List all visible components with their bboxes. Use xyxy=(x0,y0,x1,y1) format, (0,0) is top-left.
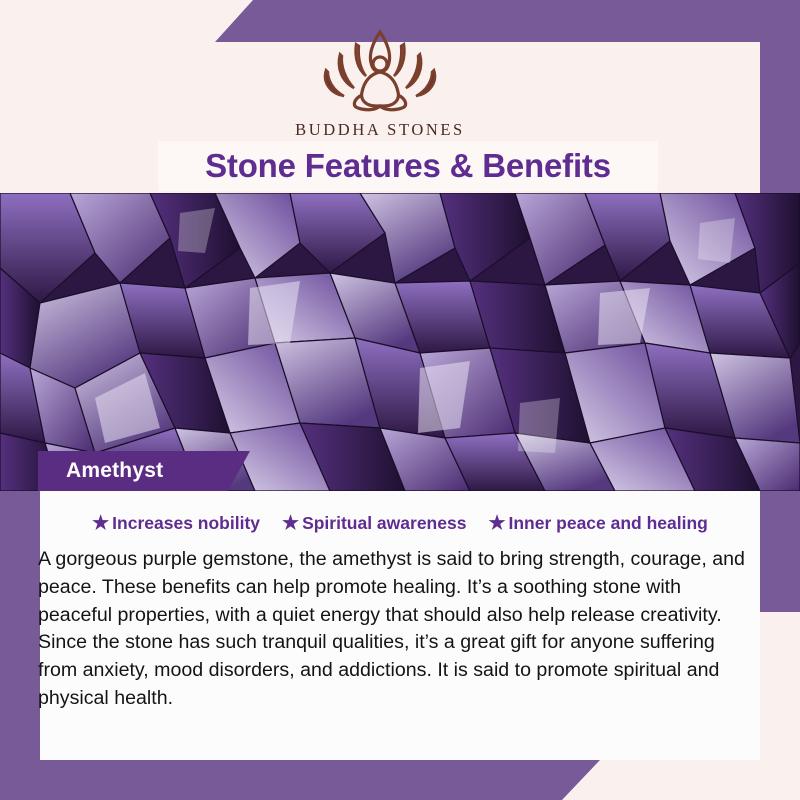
star-icon: ★ xyxy=(282,514,299,533)
brand-logo: BUDDHA STONES xyxy=(0,24,760,140)
benefits-list: ★ Increases nobility ★ Spiritual awarene… xyxy=(40,491,760,534)
benefit-item: ★ Increases nobility xyxy=(92,513,260,534)
amethyst-crystal-artwork xyxy=(0,193,800,491)
hero-image-amethyst-crystals xyxy=(0,193,800,491)
page-title: Stone Features & Benefits xyxy=(205,147,611,185)
star-icon: ★ xyxy=(488,514,505,533)
benefit-label: Inner peace and healing xyxy=(509,513,708,534)
stone-name-label: Amethyst xyxy=(66,459,163,483)
decorative-band-left xyxy=(0,489,40,800)
benefit-item: ★ Spiritual awareness xyxy=(282,513,466,534)
star-icon: ★ xyxy=(92,514,109,533)
page-root: BUDDHA STONES Stone Features & Benefits xyxy=(0,0,800,800)
benefit-label: Spiritual awareness xyxy=(302,513,466,534)
brand-wordmark: BUDDHA STONES xyxy=(0,120,760,140)
stone-description: A gorgeous purple gemstone, the amethyst… xyxy=(38,546,748,713)
benefit-label: Increases nobility xyxy=(112,513,260,534)
decorative-band-bottom xyxy=(0,760,600,800)
content-panel: ★ Increases nobility ★ Spiritual awarene… xyxy=(40,491,760,760)
title-bar: Stone Features & Benefits xyxy=(158,141,658,191)
stone-name-banner: Amethyst xyxy=(38,451,250,491)
benefit-item: ★ Inner peace and healing xyxy=(488,513,707,534)
lotus-meditation-figure-icon xyxy=(296,24,464,116)
